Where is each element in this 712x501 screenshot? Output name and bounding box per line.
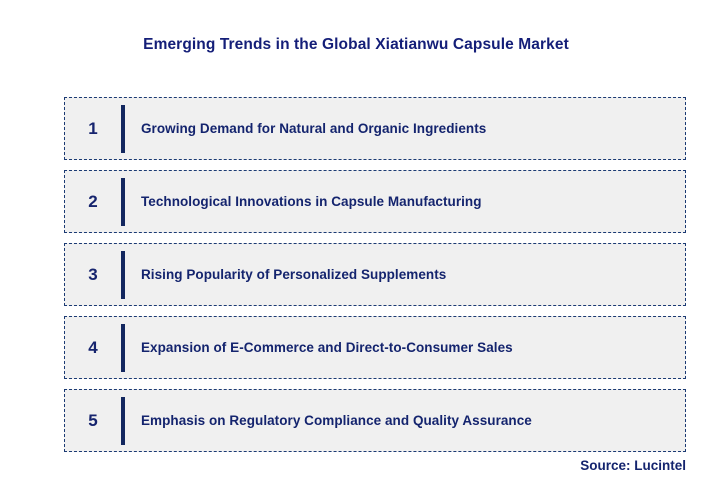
trend-label: Growing Demand for Natural and Organic I… xyxy=(125,121,685,136)
page-title: Emerging Trends in the Global Xiatianwu … xyxy=(0,36,712,54)
trend-number: 4 xyxy=(65,338,121,358)
trend-row-2: 2 Technological Innovations in Capsule M… xyxy=(64,170,686,233)
trend-number: 3 xyxy=(65,265,121,285)
trend-label: Technological Innovations in Capsule Man… xyxy=(125,194,685,209)
trend-number: 1 xyxy=(65,119,121,139)
trend-label: Expansion of E-Commerce and Direct-to-Co… xyxy=(125,340,685,355)
trend-number: 2 xyxy=(65,192,121,212)
trend-row-1: 1 Growing Demand for Natural and Organic… xyxy=(64,97,686,160)
trend-number: 5 xyxy=(65,411,121,431)
trend-label: Emphasis on Regulatory Compliance and Qu… xyxy=(125,413,685,428)
trend-list: 1 Growing Demand for Natural and Organic… xyxy=(64,97,686,452)
trend-row-4: 4 Expansion of E-Commerce and Direct-to-… xyxy=(64,316,686,379)
source-attribution: Source: Lucintel xyxy=(580,458,686,473)
trend-row-3: 3 Rising Popularity of Personalized Supp… xyxy=(64,243,686,306)
trend-label: Rising Popularity of Personalized Supple… xyxy=(125,267,685,282)
trend-row-5: 5 Emphasis on Regulatory Compliance and … xyxy=(64,389,686,452)
infographic-page: Emerging Trends in the Global Xiatianwu … xyxy=(0,0,712,501)
